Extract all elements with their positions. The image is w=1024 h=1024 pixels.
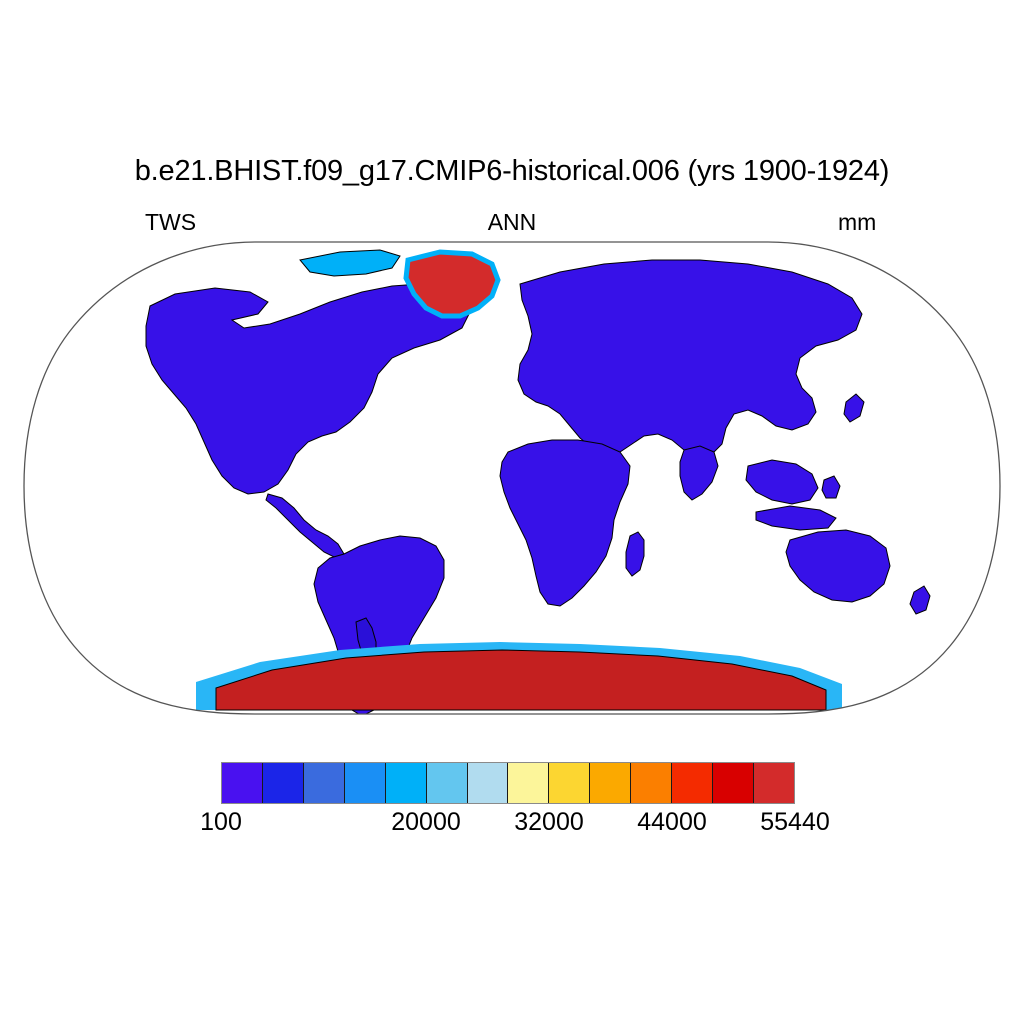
- map-svg: [0, 236, 1024, 736]
- figure-root: b.e21.BHIST.f09_g17.CMIP6-historical.006…: [0, 0, 1024, 1024]
- world-map: [0, 236, 1024, 736]
- colorbar-swatch-orange: [631, 763, 672, 803]
- figure-title: b.e21.BHIST.f09_g17.CMIP6-historical.006…: [0, 155, 1024, 188]
- colorbar-swatch-bright-blue: [345, 763, 386, 803]
- colorbar-swatch-orange-red: [672, 763, 713, 803]
- colorbar-swatch-blue: [263, 763, 304, 803]
- colorbar-swatch-pale-yellow: [508, 763, 549, 803]
- colorbar-swatch-gold: [549, 763, 590, 803]
- colorbar-tick-44000: 44000: [637, 808, 707, 837]
- colorbar-tick-labels: 10020000320004400055440: [0, 808, 1024, 842]
- colorbar: [221, 762, 795, 804]
- colorbar-swatch-amber: [590, 763, 631, 803]
- colorbar-swatch-pale-blue: [468, 763, 509, 803]
- colorbar-tick-32000: 32000: [514, 808, 584, 837]
- colorbar-swatch-violet-blue: [222, 763, 263, 803]
- colorbar-swatch-sky-blue: [427, 763, 468, 803]
- colorbar-swatch-brick-red: [754, 763, 794, 803]
- colorbar-tick-55440: 55440: [760, 808, 830, 837]
- colorbar-tick-20000: 20000: [391, 808, 461, 837]
- colorbar-swatch-medium-blue: [304, 763, 345, 803]
- colorbar-swatch-cyan: [386, 763, 427, 803]
- colorbar-swatch-red: [713, 763, 754, 803]
- units-label: mm: [838, 209, 876, 236]
- colorbar-tick-100: 100: [200, 808, 242, 837]
